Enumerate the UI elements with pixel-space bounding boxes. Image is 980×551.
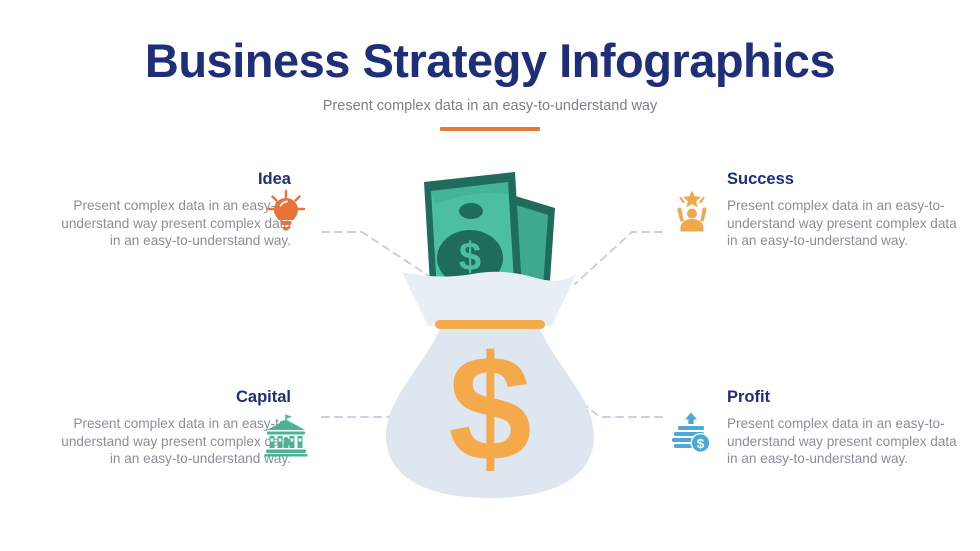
- section-idea-heading: Idea: [55, 170, 291, 188]
- section-capital-body: Present complex data in an easy-to-under…: [55, 415, 291, 468]
- section-success-heading: Success: [727, 170, 963, 188]
- section-success: Success Present complex data in an easy-…: [727, 170, 963, 250]
- section-idea-body: Present complex data in an easy-to-under…: [55, 197, 291, 250]
- svg-text:$: $: [459, 235, 481, 279]
- page-title: Business Strategy Infographics: [0, 36, 980, 86]
- section-profit: Profit Present complex data in an easy-t…: [727, 388, 963, 468]
- person-star-icon: [669, 188, 715, 234]
- section-capital: Capital Present complex data in an easy-…: [55, 388, 291, 468]
- title-divider: [440, 127, 540, 131]
- coin-stack-growth-icon: $: [669, 410, 715, 456]
- infographic-slide: Business Strategy Infographics Present c…: [0, 0, 980, 551]
- section-profit-heading: Profit: [727, 388, 963, 406]
- page-subtitle: Present complex data in an easy-to-under…: [0, 98, 980, 115]
- bag-dollar-sign: $: [448, 324, 531, 492]
- section-idea: Idea Present complex data in an easy-to-…: [55, 170, 291, 250]
- header: Business Strategy Infographics Present c…: [0, 36, 980, 115]
- section-capital-heading: Capital: [55, 388, 291, 406]
- section-success-body: Present complex data in an easy-to-under…: [727, 197, 963, 250]
- bank-building-icon: [263, 412, 309, 458]
- svg-text:$: $: [697, 436, 705, 451]
- lightbulb-icon: [263, 188, 309, 234]
- section-profit-body: Present complex data in an easy-to-under…: [727, 415, 963, 468]
- money-bag-graphic: $ $: [380, 160, 620, 505]
